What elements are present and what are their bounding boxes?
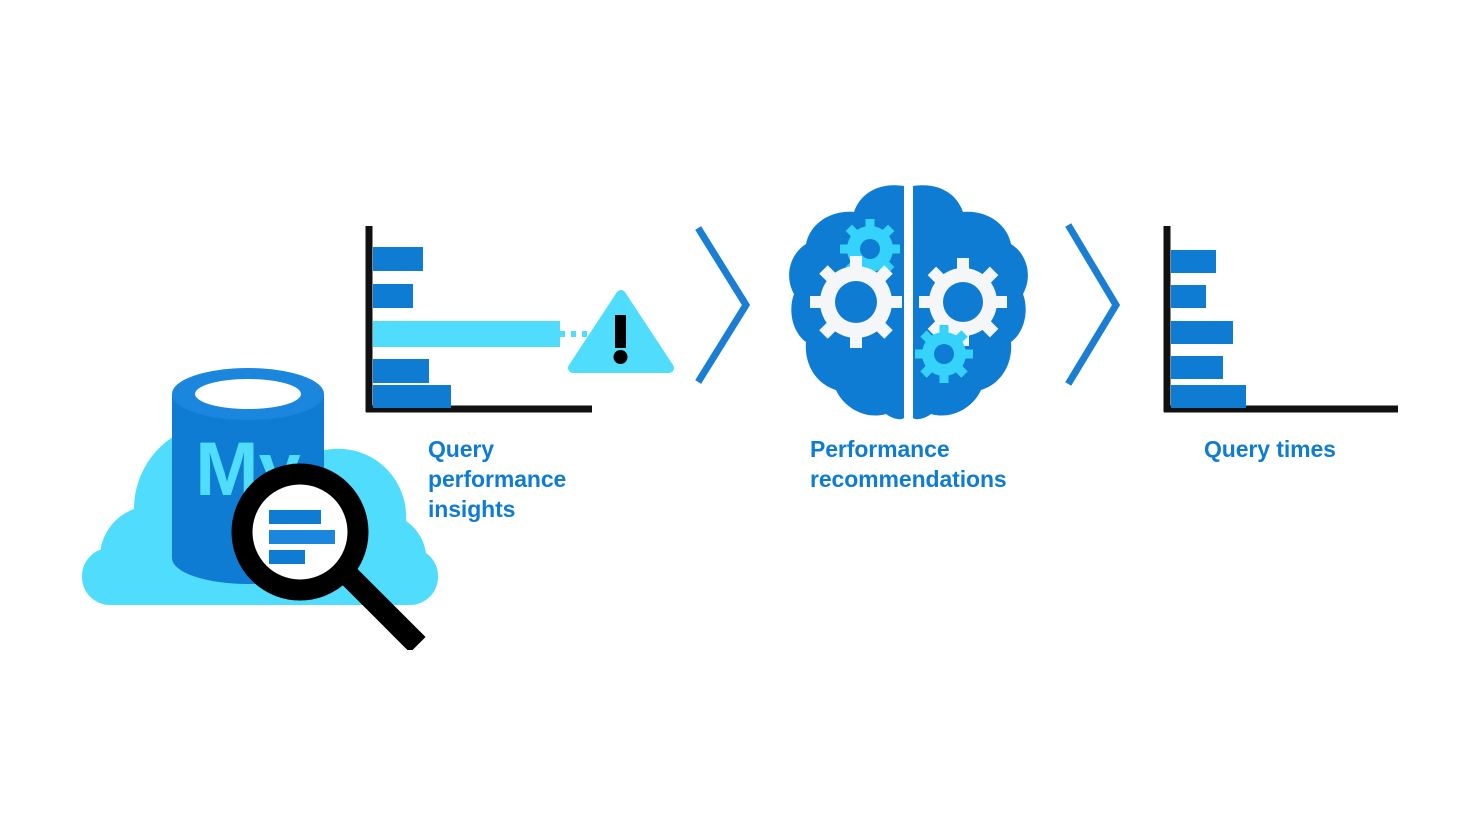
bar-5: [373, 385, 451, 408]
caption-performance-recommendations: Performance recommendations: [810, 434, 1070, 494]
query-times-chart: [1158, 222, 1408, 422]
warning-triangle-icon: [573, 295, 669, 368]
bar-3: [373, 321, 560, 347]
bar-4: [1171, 356, 1223, 379]
chart-bars: [373, 247, 560, 408]
gear-large-left-icon: [810, 256, 902, 348]
diagram-canvas: My: [0, 0, 1468, 828]
caption-query-performance-insights: Query performance insights: [428, 434, 628, 524]
bar-4: [373, 359, 429, 383]
bar-1: [1171, 250, 1216, 273]
bar-5: [1171, 385, 1246, 408]
gear-small-right-icon: [915, 325, 973, 383]
chart-bars: [1171, 250, 1246, 408]
bar-1: [373, 247, 423, 271]
bar-2: [1171, 285, 1206, 308]
query-performance-insights-chart: [360, 222, 690, 422]
chevron-right-icon-1: [686, 225, 766, 385]
caption-query-times: Query times: [1204, 434, 1424, 464]
brain-icon: [786, 182, 1031, 422]
bar-2: [373, 284, 413, 308]
bar-3: [1171, 321, 1233, 344]
chevron-right-icon-2: [1056, 222, 1136, 387]
